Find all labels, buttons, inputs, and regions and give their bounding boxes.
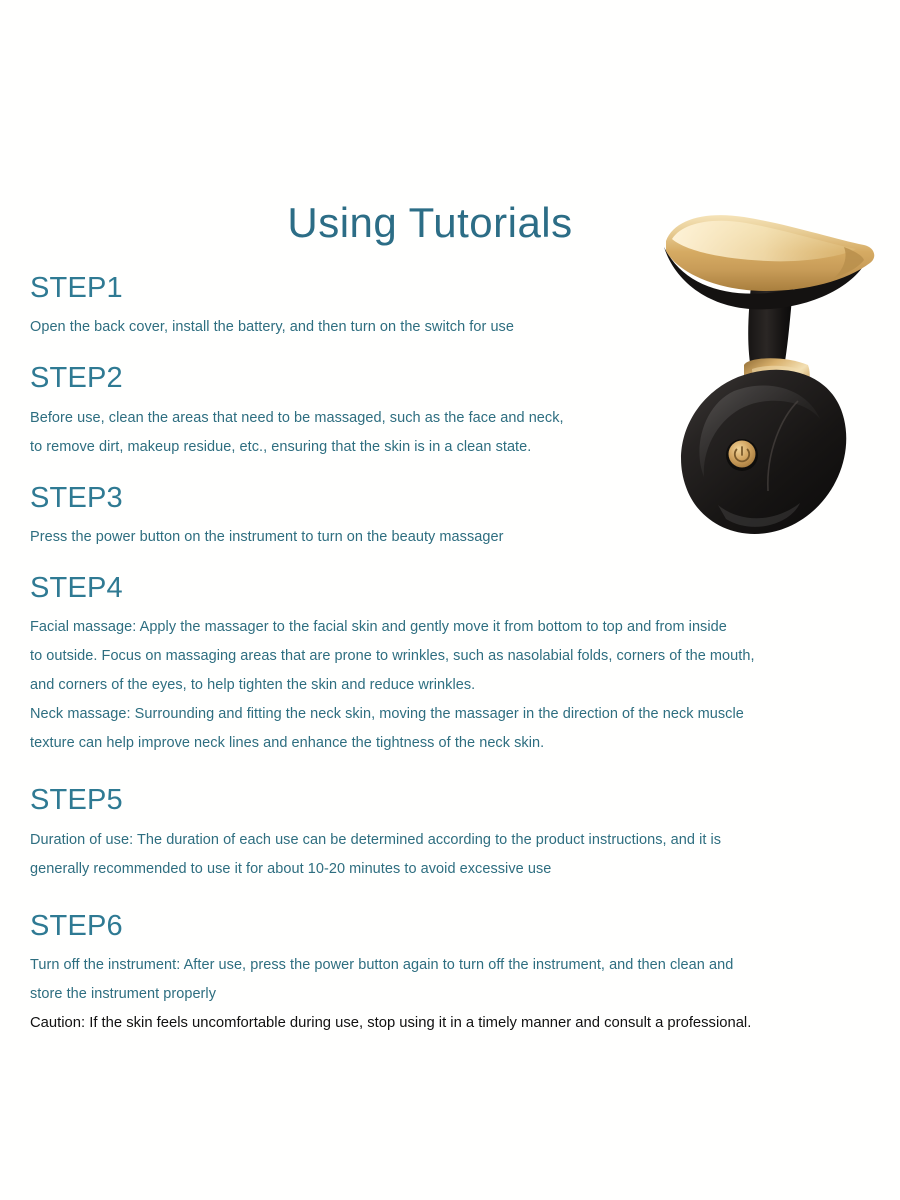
step-4-line-3: and corners of the eyes, to help tighten… xyxy=(30,671,880,700)
step-heading-4: STEP4 xyxy=(30,572,880,605)
spacer xyxy=(30,884,880,910)
step-body-5: Duration of use: The duration of each us… xyxy=(30,826,880,884)
steps-list: STEP1 Open the back cover, install the b… xyxy=(30,272,880,1009)
step-6-line-1: Turn off the instrument: After use, pres… xyxy=(30,951,880,980)
step-2-line-2: to remove dirt, makeup residue, etc., en… xyxy=(30,433,880,462)
step-body-6: Turn off the instrument: After use, pres… xyxy=(30,951,880,1009)
step-5-line-2: generally recommended to use it for abou… xyxy=(30,855,880,884)
step-body-4: Facial massage: Apply the massager to th… xyxy=(30,613,880,758)
step-4-line-5: texture can help improve neck lines and … xyxy=(30,729,880,758)
step-heading-6: STEP6 xyxy=(30,910,880,943)
step-block-6: STEP6 Turn off the instrument: After use… xyxy=(30,910,880,1009)
step-4-line-2: to outside. Focus on massaging areas tha… xyxy=(30,642,880,671)
step-block-4: STEP4 Facial massage: Apply the massager… xyxy=(30,572,880,758)
spacer xyxy=(30,342,880,362)
step-block-3: STEP3 Press the power button on the inst… xyxy=(30,482,880,552)
step-body-2: Before use, clean the areas that need to… xyxy=(30,404,880,462)
tutorial-page: Using Tutorials xyxy=(0,0,900,1200)
step-body-3: Press the power button on the instrument… xyxy=(30,523,880,552)
step-heading-2: STEP2 xyxy=(30,362,880,395)
step-block-5: STEP5 Duration of use: The duration of e… xyxy=(30,784,880,883)
spacer xyxy=(30,758,880,784)
step-block-1: STEP1 Open the back cover, install the b… xyxy=(30,272,880,342)
caution-note: Caution: If the skin feels uncomfortable… xyxy=(30,1012,885,1036)
step-3-line-1: Press the power button on the instrument… xyxy=(30,523,880,552)
step-4-line-1: Facial massage: Apply the massager to th… xyxy=(30,613,880,642)
step-heading-5: STEP5 xyxy=(30,784,880,817)
step-block-2: STEP2 Before use, clean the areas that n… xyxy=(30,362,880,461)
step-1-line-1: Open the back cover, install the battery… xyxy=(30,313,880,342)
step-heading-1: STEP1 xyxy=(30,272,880,305)
spacer xyxy=(30,552,880,572)
step-body-1: Open the back cover, install the battery… xyxy=(30,313,880,342)
step-4-line-4: Neck massage: Surrounding and fitting th… xyxy=(30,700,880,729)
step-6-line-2: store the instrument properly xyxy=(30,980,880,1009)
step-5-line-1: Duration of use: The duration of each us… xyxy=(30,826,880,855)
step-2-line-1: Before use, clean the areas that need to… xyxy=(30,404,880,433)
step-heading-3: STEP3 xyxy=(30,482,880,515)
spacer xyxy=(30,462,880,482)
